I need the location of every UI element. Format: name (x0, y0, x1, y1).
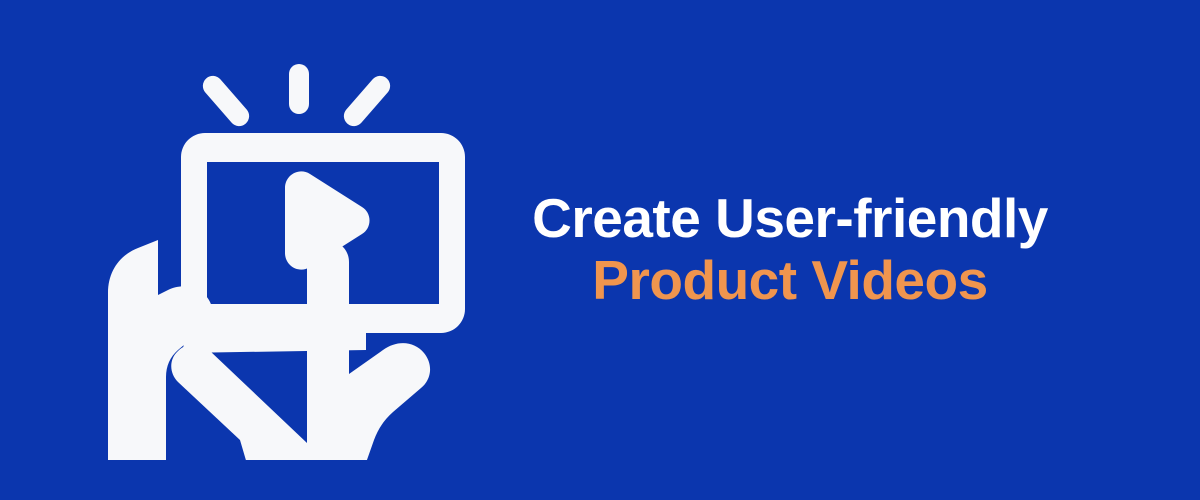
headline-line-1: Create User-friendly (532, 188, 1048, 250)
spark-dashes-group (199, 64, 394, 130)
spark-dash-center-icon (289, 64, 309, 114)
illustration-container (80, 40, 480, 460)
spark-dash-right-icon (340, 72, 394, 130)
promo-banner: Create User-friendly Product Videos (0, 0, 1200, 500)
headline-line-2: Product Videos (592, 250, 987, 312)
spark-dash-left-icon (199, 72, 253, 130)
headline-block: Create User-friendly Product Videos (480, 170, 1100, 330)
